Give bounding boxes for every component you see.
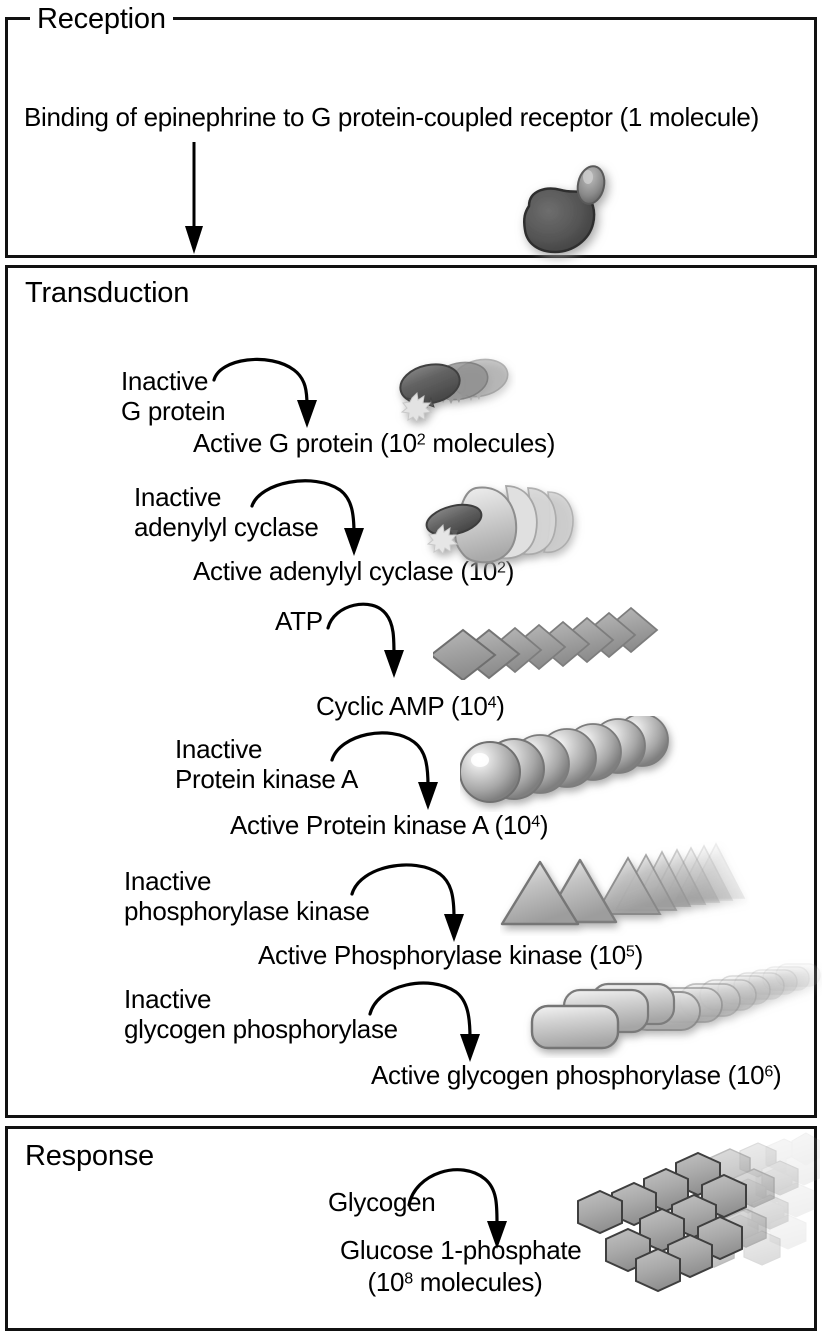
step-6-active-suffix: ) [773, 1060, 781, 1090]
step-4-active-exponent: 4 [531, 812, 540, 830]
step-4-curved-arrow [328, 716, 448, 820]
step-6-inactive-line1: Inactive [124, 984, 211, 1015]
step-1-inactive-line1: Inactive [121, 366, 208, 397]
step-4-inactive-line1: Inactive [175, 734, 262, 765]
glucose-hexagon-cloud-icon [548, 1125, 820, 1295]
reception-binding-text: Binding of epinephrine to G protein-coup… [24, 102, 759, 133]
response-product-exponent: 8 [404, 1269, 413, 1287]
step-1-curved-arrow [210, 348, 330, 438]
step-4-active-prefix: Active Protein kinase A (10 [230, 810, 531, 840]
phosphorylase-kinase-triangle-row-icon [500, 836, 750, 936]
section-label-response: Response [25, 1141, 154, 1171]
signal-transduction-diagram: Reception Binding of epinephrine to G pr… [0, 0, 822, 1344]
step-6-active-exponent: 6 [764, 1062, 773, 1080]
response-product-line2: (108 molecules) [340, 1267, 570, 1298]
section-reception: Reception Binding of epinephrine to G pr… [5, 17, 817, 258]
section-response: Response Glycogen Glucose 1-phosphate (1… [5, 1126, 817, 1331]
response-product-prefix: (10 [368, 1267, 405, 1297]
response-product-line1: Glucose 1-phosphate [340, 1235, 570, 1266]
section-label-reception: Reception [30, 4, 173, 34]
step-6-inactive-line2: glycogen phosphorylase [124, 1014, 398, 1045]
step-3-active-exponent: 4 [488, 693, 497, 711]
step-5-inactive-line2: phosphorylase kinase [124, 896, 370, 927]
section-transduction: Transduction Inactive G protein Active G… [5, 265, 817, 1118]
step-6-active-prefix: Active glycogen phosphorylase (10 [371, 1060, 764, 1090]
step-3-inactive-line1: ATP [275, 606, 323, 637]
g-protein-oval-cluster-icon [376, 352, 516, 434]
response-product-suffix: molecules) [413, 1267, 543, 1297]
step-5-inactive-line1: Inactive [124, 866, 211, 897]
step-2-curved-arrow [248, 464, 378, 566]
step-6-active-label: Active glycogen phosphorylase (106) [371, 1060, 781, 1091]
adenylyl-cyclase-shell-cluster-icon [420, 468, 590, 576]
step-2-inactive-line1: Inactive [134, 482, 221, 513]
epinephrine-receptor-blob-icon [503, 160, 623, 270]
down-arrow-straight [174, 142, 224, 258]
section-label-transduction: Transduction [25, 278, 189, 308]
step-6-curved-arrow [366, 966, 496, 1072]
protein-kinase-a-sphere-row-icon [460, 716, 680, 812]
glycogen-phosphorylase-capsule-row-icon [508, 958, 822, 1058]
step-5-curved-arrow [348, 848, 478, 952]
step-3-curved-arrow [324, 588, 414, 688]
cyclic-amp-diamond-row-icon [433, 606, 673, 680]
